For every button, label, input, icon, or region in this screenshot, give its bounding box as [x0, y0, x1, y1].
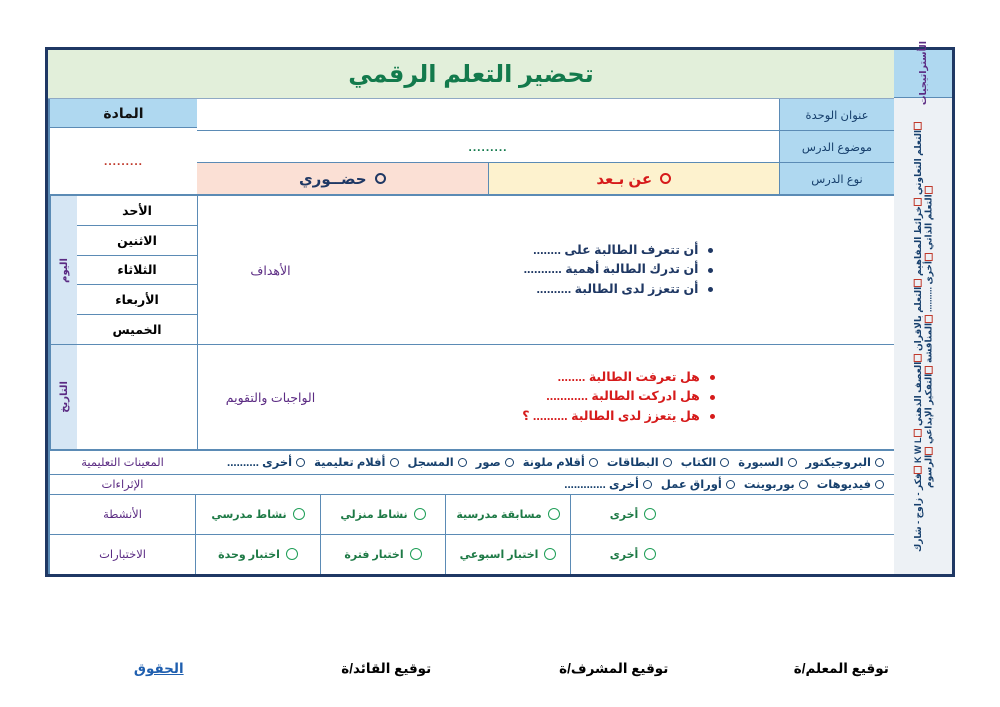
strategy-item[interactable]: التفكير الإبداعي — [923, 364, 933, 444]
radio-icon[interactable] — [788, 458, 797, 467]
objectives-evaluation-rows: أن تتعرف الطالبة على ........ أن تدرك ال… — [197, 196, 894, 449]
teaching-aid-option[interactable]: صور — [476, 455, 514, 469]
checkbox-icon[interactable] — [924, 366, 932, 374]
radio-icon[interactable] — [296, 458, 305, 467]
date-vertical-label: التاريخ — [51, 345, 77, 449]
strategy-item[interactable]: التعلم التعاوني — [913, 120, 923, 195]
teaching-aid-option[interactable]: الكتاب — [681, 455, 730, 469]
days-list: الأحد الاثنين الثلاثاء الأربعاء الخميس — [77, 196, 197, 345]
tests-label: الاختبارات — [48, 535, 195, 574]
checkbox-icon[interactable] — [914, 466, 922, 474]
teaching-aid-option[interactable]: أقلام ملونة — [523, 455, 598, 469]
strategy-label: العصف الذهني — [913, 362, 923, 426]
evaluation-row: هل تعرفت الطالبة ........ هل ادركت الطال… — [197, 345, 894, 449]
day-vertical-label: اليوم — [51, 196, 77, 345]
bullet-icon — [708, 248, 713, 253]
evaluation-content: هل تعرفت الطالبة ........ هل ادركت الطال… — [343, 345, 894, 449]
strategies-vertical-list: التعلم التعاوني خرائط المفاهيم التعلم با… — [913, 98, 934, 574]
test-option[interactable]: اختبار اسبوعي — [445, 535, 570, 574]
radio-icon[interactable] — [286, 548, 298, 560]
strategy-label: K W L — [913, 437, 923, 463]
teaching-aid-option[interactable]: البطاقات — [607, 455, 672, 469]
activities-blank-cell[interactable] — [695, 495, 894, 534]
enrichment-option[interactable]: أوراق عمل — [661, 477, 735, 491]
radio-icon[interactable] — [875, 480, 884, 489]
radio-icon[interactable] — [390, 458, 399, 467]
strategies-column: الأستراتيجيات التعلم التعاوني خرائط المف… — [894, 50, 952, 574]
teaching-aid-option[interactable]: أفلام تعليمية — [314, 455, 398, 469]
radio-icon[interactable] — [414, 508, 426, 520]
lesson-plan-sheet: الأستراتيجيات التعلم التعاوني خرائط المف… — [45, 47, 955, 577]
checkbox-icon[interactable] — [914, 122, 922, 130]
evaluation-text: هل تعرفت الطالبة ........ — [558, 368, 700, 387]
bullet-icon — [710, 395, 715, 400]
lesson-type-row: نوع الدرس عن بـعد حضــوري — [197, 163, 894, 194]
supervisor-signature: توقيع المشرف/ة — [500, 661, 728, 677]
main-content-column: تحضير التعلم الرقمي عنوان الوحدة موضوع ا… — [48, 50, 894, 574]
activities-options: أخرى مسابقة مدرسية نشاط منزلي نشاط مدرسي — [195, 495, 894, 534]
enrichment-options: فيديوهات بوربوينت أوراق عمل أخرى .......… — [195, 475, 894, 494]
radio-icon[interactable] — [720, 458, 729, 467]
lesson-type-remote[interactable]: عن بـعد — [489, 163, 780, 194]
strategy-label: خرائط المفاهيم — [913, 206, 923, 276]
radio-icon[interactable] — [643, 480, 652, 489]
objective-text: أن تتعرف الطالبة على ........ — [533, 241, 698, 260]
evaluation-text: هل يتعزز لدى الطالبة .......... ؟ — [522, 407, 700, 426]
strategies-list: التعلم التعاوني خرائط المفاهيم التعلم با… — [894, 98, 952, 574]
checkbox-icon[interactable] — [914, 354, 922, 362]
strategies-header: الأستراتيجيات — [894, 50, 952, 98]
lesson-type-onsite[interactable]: حضــوري — [197, 163, 489, 194]
strategy-item[interactable]: العصف الذهني — [913, 352, 923, 426]
strategies-header-label: الأستراتيجيات — [918, 41, 929, 105]
teaching-aid-option[interactable]: أخرى .......... — [227, 455, 305, 469]
header-info-block: عنوان الوحدة موضوع الدرس ......... نوع ا… — [48, 99, 894, 196]
checkbox-icon[interactable] — [924, 315, 932, 323]
lesson-topic-label: موضوع الدرس — [779, 131, 894, 162]
day-cell[interactable]: الاثنين — [77, 226, 197, 256]
radio-icon[interactable] — [660, 173, 671, 184]
strategy-label: الرسوم — [923, 455, 933, 488]
test-option[interactable]: اختبار وحدة — [195, 535, 320, 574]
enrichment-option[interactable]: بوربوينت — [744, 477, 808, 491]
evaluation-list: هل تعرفت الطالبة ........ هل ادركت الطال… — [522, 368, 715, 426]
day-cell[interactable]: الخميس — [77, 315, 197, 344]
day-cell[interactable]: الثلاثاء — [77, 256, 197, 286]
strategy-item[interactable]: التعلم بالاقران — [913, 277, 923, 351]
subject-header: المادة — [50, 99, 197, 128]
radio-icon[interactable] — [293, 508, 305, 520]
objectives-content: أن تتعرف الطالبة على ........ أن تدرك ال… — [343, 196, 894, 344]
objectives-list: أن تتعرف الطالبة على ........ أن تدرك ال… — [524, 241, 714, 299]
strategy-item[interactable]: أخرى .......... — [923, 251, 933, 312]
strategy-item[interactable]: المناقشة — [923, 313, 933, 363]
strategy-item[interactable]: خرائط المفاهيم — [913, 196, 923, 276]
radio-icon[interactable] — [505, 458, 514, 467]
subject-column: المادة ......... — [48, 99, 197, 194]
objective-text: أن تدرك الطالبة أهمية ........... — [524, 260, 699, 279]
teaching-aids-options: البروجيكتور السبورة الكتاب البطاقات أقلا… — [195, 451, 894, 474]
objective-item: أن تتعرف الطالبة على ........ — [524, 241, 714, 260]
info-rows: عنوان الوحدة موضوع الدرس ......... نوع ا… — [197, 99, 894, 194]
unit-title-label: عنوان الوحدة — [779, 99, 894, 130]
lesson-type-onsite-label: حضــوري — [299, 170, 367, 188]
signatures-row: توقيع المعلم/ة توقيع المشرف/ة توقيع القا… — [45, 655, 955, 683]
checkbox-icon[interactable] — [924, 186, 932, 194]
objective-item: أن تدرك الطالبة أهمية ........... — [524, 260, 714, 279]
strategy-label: التعلم التعاوني — [913, 130, 923, 195]
tests-options: أخرى اختبار اسبوعي اختبار فترة اختبار وح… — [195, 535, 894, 574]
objectives-label: الأهداف — [197, 196, 343, 344]
teaching-aid-option[interactable]: البروجيكتور — [806, 455, 884, 469]
days-wrapper: الأحد الاثنين الثلاثاء الأربعاء الخميس — [77, 196, 197, 449]
lesson-topic-value[interactable]: ......... — [197, 131, 779, 162]
bullet-icon — [708, 268, 713, 273]
teaching-aids-row: البروجيكتور السبورة الكتاب البطاقات أقلا… — [48, 451, 894, 475]
teaching-aid-option[interactable]: السبورة — [738, 455, 796, 469]
radio-icon[interactable] — [799, 480, 808, 489]
tests-blank-cell[interactable] — [695, 535, 894, 574]
subject-value[interactable]: ......... — [50, 128, 197, 194]
strategy-label: التعلم الذاتي — [923, 194, 933, 250]
title-row: تحضير التعلم الرقمي — [48, 50, 894, 99]
strategy-label: التفكير الإبداعي — [923, 374, 933, 444]
enrichment-option[interactable]: فيديوهات — [817, 477, 884, 491]
objective-text: أن تتعزز لدى الطالبة .......... — [536, 280, 698, 299]
resources-block: البروجيكتور السبورة الكتاب البطاقات أقلا… — [48, 451, 894, 574]
evaluation-item: هل تعرفت الطالبة ........ — [522, 368, 715, 387]
checkbox-icon[interactable] — [924, 447, 932, 455]
evaluation-item: هل يتعزز لدى الطالبة .......... ؟ — [522, 407, 715, 426]
lesson-type-label: نوع الدرس — [779, 163, 894, 194]
test-option[interactable]: اختبار فترة — [320, 535, 445, 574]
enrichment-option[interactable]: أخرى ............. — [564, 477, 652, 491]
enrichment-label: الإثراءات — [48, 475, 195, 494]
radio-icon[interactable] — [544, 548, 556, 560]
strategy-item[interactable]: التعلم الذاتي — [923, 184, 933, 250]
strategy-label: أخرى .......... — [923, 261, 933, 312]
radio-icon[interactable] — [644, 548, 656, 560]
page-title-text: تحضير التعلم الرقمي — [348, 60, 593, 89]
strategy-label: فكر - زاوج - شارك — [913, 474, 923, 553]
bullet-icon — [710, 375, 715, 380]
radio-icon[interactable] — [726, 480, 735, 489]
strategy-item[interactable]: الرسوم — [923, 445, 933, 488]
activity-option[interactable]: مسابقة مدرسية — [445, 495, 570, 534]
strategy-item[interactable]: K W L — [913, 427, 923, 463]
bullet-icon — [710, 414, 715, 419]
activities-label: الأنشطة — [48, 495, 195, 534]
unit-title-value[interactable] — [197, 99, 779, 130]
day-date-column: الأحد الاثنين الثلاثاء الأربعاء الخميس ا… — [48, 196, 197, 449]
teaching-aids-label: المعينات التعليمية — [48, 451, 195, 474]
bullet-icon — [708, 287, 713, 292]
day-date-vertical-labels: اليوم التاريخ — [50, 196, 77, 449]
strategy-label: التعلم بالاقران — [913, 287, 923, 351]
radio-icon[interactable] — [663, 458, 672, 467]
lesson-type-remote-label: عن بـعد — [596, 170, 652, 188]
day-cell[interactable]: الأحد — [77, 196, 197, 226]
radio-icon[interactable] — [589, 458, 598, 467]
radio-icon[interactable] — [375, 173, 386, 184]
radio-icon[interactable] — [875, 458, 884, 467]
objective-item: أن تتعزز لدى الطالبة .......... — [524, 280, 714, 299]
objectives-evaluation-block: أن تتعرف الطالبة على ........ أن تدرك ال… — [48, 196, 894, 451]
activity-option[interactable]: نشاط منزلي — [320, 495, 445, 534]
teacher-signature: توقيع المعلم/ة — [728, 661, 956, 677]
teaching-aid-option[interactable]: المسجل — [408, 455, 467, 469]
lesson-type-options: عن بـعد حضــوري — [197, 163, 779, 194]
strategy-item[interactable]: فكر - زاوج - شارك — [913, 464, 923, 553]
strategy-label: المناقشة — [923, 323, 933, 363]
day-cell[interactable]: الأربعاء — [77, 285, 197, 315]
lesson-topic-row: موضوع الدرس ......... — [197, 131, 894, 163]
checkbox-icon[interactable] — [914, 429, 922, 437]
date-value[interactable] — [77, 345, 197, 449]
page-title: تحضير التعلم الرقمي — [48, 50, 894, 98]
checkbox-icon[interactable] — [914, 198, 922, 206]
test-option[interactable]: أخرى — [570, 535, 695, 574]
rights-link[interactable]: الحقوق — [45, 661, 273, 677]
objectives-row: أن تتعرف الطالبة على ........ أن تدرك ال… — [197, 196, 894, 345]
radio-icon[interactable] — [410, 548, 422, 560]
tests-row: أخرى اختبار اسبوعي اختبار فترة اختبار وح… — [48, 535, 894, 574]
leader-signature: توقيع القائد/ة — [273, 661, 501, 677]
activity-option[interactable]: نشاط مدرسي — [195, 495, 320, 534]
radio-icon[interactable] — [644, 508, 656, 520]
unit-title-row: عنوان الوحدة — [197, 99, 894, 131]
radio-icon[interactable] — [458, 458, 467, 467]
checkbox-icon[interactable] — [924, 253, 932, 261]
evaluation-item: هل ادركت الطالبة ............ — [522, 387, 715, 406]
activities-row: أخرى مسابقة مدرسية نشاط منزلي نشاط مدرسي… — [48, 495, 894, 535]
evaluation-text: هل ادركت الطالبة ............ — [546, 387, 700, 406]
evaluation-label: الواجبات والتقويم — [197, 345, 343, 449]
radio-icon[interactable] — [548, 508, 560, 520]
enrichment-row: فيديوهات بوربوينت أوراق عمل أخرى .......… — [48, 475, 894, 495]
activity-option[interactable]: أخرى — [570, 495, 695, 534]
checkbox-icon[interactable] — [914, 279, 922, 287]
